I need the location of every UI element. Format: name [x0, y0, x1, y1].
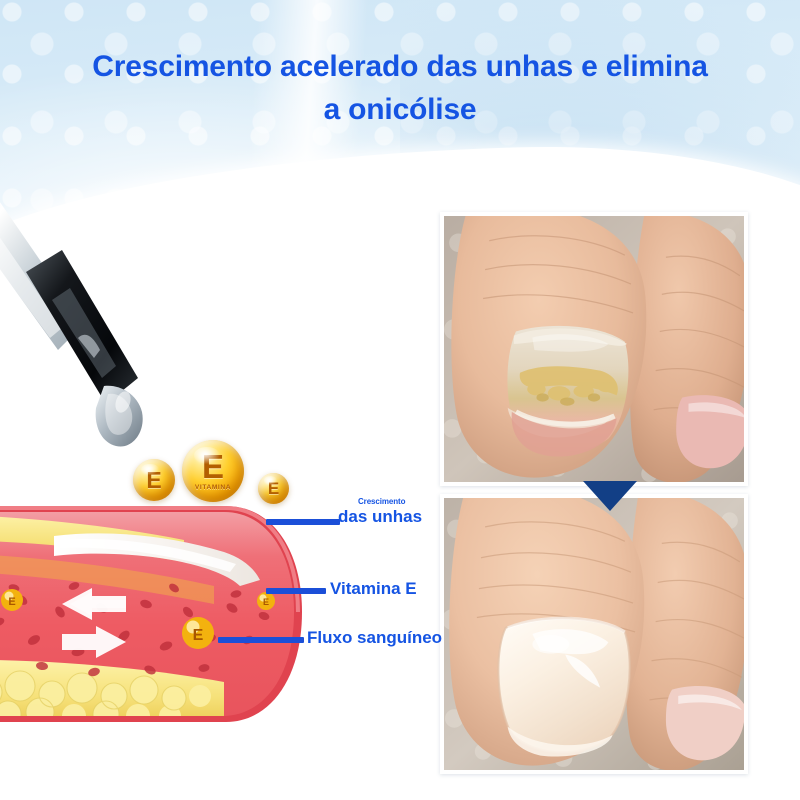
callout-growth-big: das unhas: [338, 508, 422, 526]
nail-polish-brush-icon: [0, 188, 176, 488]
capsule-letter: E: [268, 480, 279, 497]
before-photo: [444, 216, 744, 482]
vitamin-e-capsule-medium: E: [133, 459, 175, 501]
headline-line-2: a onicólise: [0, 89, 800, 132]
nail-bed-cross-section-diagram: E E E E: [0, 500, 304, 730]
capsule-caption: VITAMINA: [195, 485, 231, 492]
svg-text:E: E: [263, 597, 269, 607]
leader-line-vitamin: [266, 588, 326, 594]
leader-line-growth: [266, 519, 340, 525]
capsule-letter: E: [146, 469, 161, 492]
callout-blood-flow: Fluxo sanguíneo: [307, 628, 442, 648]
page-title: Crescimento acelerado das unhas e elimin…: [0, 46, 800, 131]
after-photo: [444, 498, 744, 770]
callout-growth-small: Crescimento: [358, 498, 422, 506]
headline-line-1: Crescimento acelerado das unhas e elimin…: [92, 50, 707, 83]
vitamin-e-capsule-small: E: [258, 473, 289, 504]
leader-line-bloodflow: [218, 637, 304, 643]
callout-vitamin-e: Vitamina E: [330, 579, 417, 599]
callout-nail-growth: Crescimento das unhas: [338, 498, 422, 526]
before-toenail-illustration: [444, 216, 744, 482]
promo-banner: Crescimento acelerado das unhas e elimin…: [0, 0, 800, 800]
svg-text:E: E: [193, 627, 204, 644]
capsule-letter: E: [202, 450, 224, 483]
before-photo-frame: [440, 212, 748, 486]
svg-text:E: E: [8, 596, 15, 608]
after-photo-frame: [440, 494, 748, 774]
after-toenail-illustration: [444, 498, 744, 770]
vitamin-e-capsule-large: E VITAMINA: [182, 440, 244, 502]
transition-arrow-down-icon: [583, 481, 637, 511]
